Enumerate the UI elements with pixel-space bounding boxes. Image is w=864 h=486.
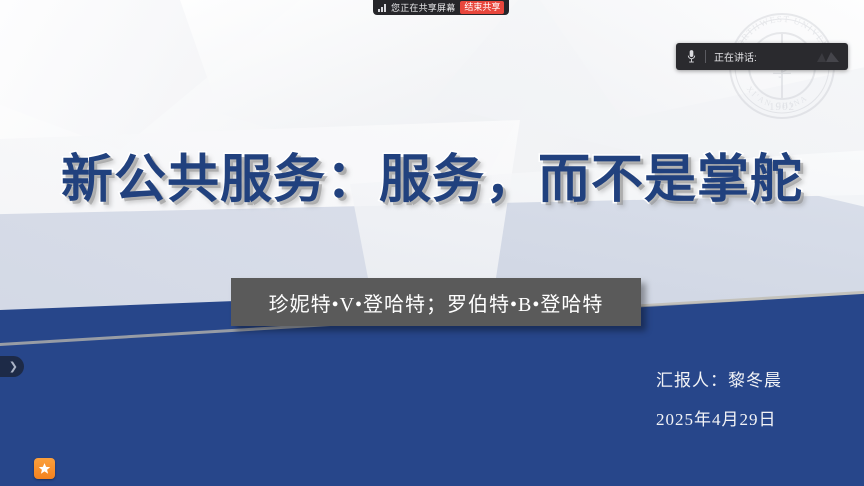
slide-panel-toggle[interactable]: ❯ xyxy=(0,356,24,377)
svg-text:1902: 1902 xyxy=(769,101,795,113)
chevron-right-icon: ❯ xyxy=(9,361,18,372)
speaking-status-widget[interactable]: 正在讲话: xyxy=(676,43,848,70)
presenter-info: 汇报人：黎冬晨 2025年4月29日 xyxy=(656,366,782,444)
presentation-slide[interactable]: NORTHWEST UNIVERSITY XI'AN CHINA 學 1902 … xyxy=(0,0,864,486)
speaking-status-label: 正在讲话: xyxy=(714,49,757,64)
presenter-name: 汇报人：黎冬晨 xyxy=(656,366,782,391)
slide-title: 新公共服务：服务，而不是掌舵 xyxy=(0,152,864,208)
screen-share-status-label: 您正在共享屏幕 xyxy=(391,1,455,14)
signal-bars-icon xyxy=(378,4,386,12)
screen-share-bar[interactable]: 您正在共享屏幕 结束共享 xyxy=(373,0,509,15)
slide-subtitle-box: 珍妮特•V•登哈特；罗伯特•B•登哈特 xyxy=(231,278,641,326)
favorite-star-badge[interactable] xyxy=(34,458,55,479)
microphone-icon xyxy=(686,49,697,64)
presentation-date: 2025年4月29日 xyxy=(656,405,782,430)
slide-subtitle: 珍妮特•V•登哈特；罗伯特•B•登哈特 xyxy=(269,288,604,317)
meeting-app-logo-icon xyxy=(817,50,839,63)
star-icon xyxy=(38,462,51,475)
widget-divider xyxy=(705,50,706,63)
screen-root: NORTHWEST UNIVERSITY XI'AN CHINA 學 1902 … xyxy=(0,0,864,486)
stop-sharing-button[interactable]: 结束共享 xyxy=(460,1,504,14)
